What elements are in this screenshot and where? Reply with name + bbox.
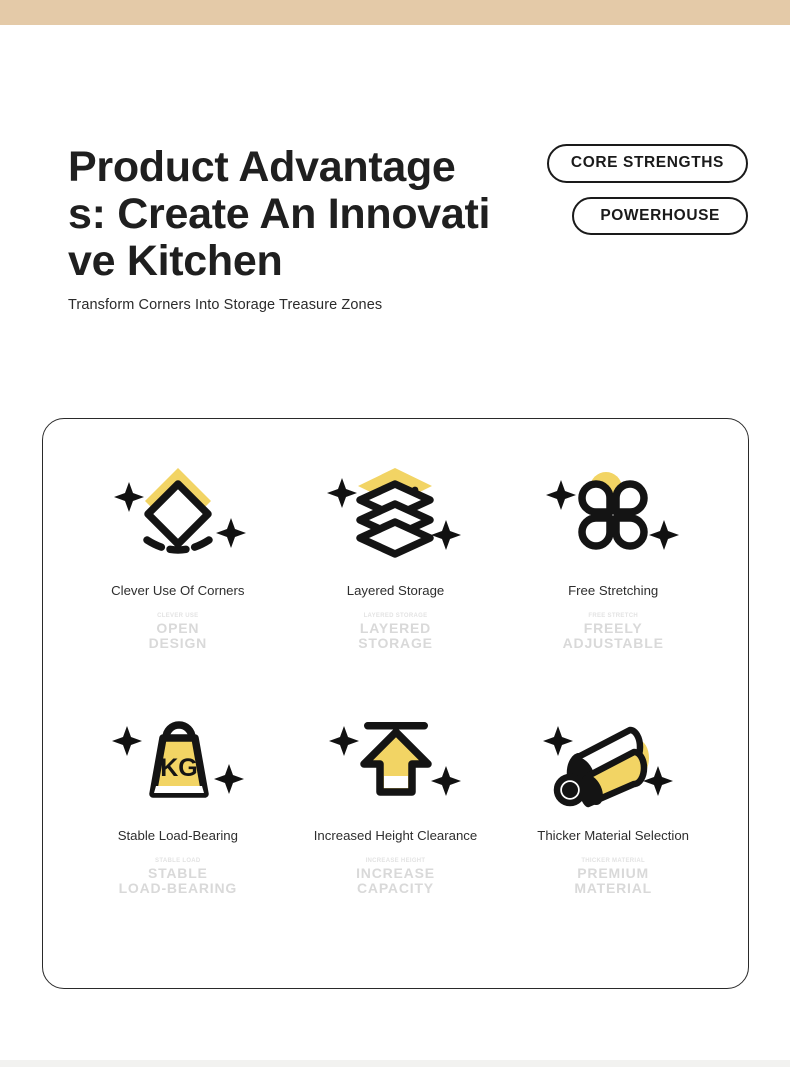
watermark-line-2: DESIGN xyxy=(149,636,207,651)
feature-label: Layered Storage xyxy=(347,583,445,599)
metal-pipes-icon xyxy=(533,708,693,812)
page-header: Product Advantages: Create An Innovative… xyxy=(0,130,790,340)
watermark-line-1: OPEN xyxy=(149,621,207,636)
kg-weight-icon: KG xyxy=(98,708,258,812)
feature-label: Free Stretching xyxy=(568,583,658,599)
watermark-line-1: FREELY xyxy=(563,621,664,636)
feature-item-layered-storage[interactable]: Layered Storage Layered Storage LAYERED … xyxy=(287,457,505,708)
feature-item-clever-use-of-corners[interactable]: Clever Use Of Corners Clever Use OPEN DE… xyxy=(69,457,287,708)
feature-label: Clever Use Of Corners xyxy=(111,583,244,599)
page-root: Product Advantages: Create An Innovative… xyxy=(0,0,790,1067)
watermark-line-1: PREMIUM xyxy=(574,866,652,881)
watermark-top-line: Thicker Material xyxy=(574,857,652,865)
badge-group: CORE STRENGTHS POWERHOUSE xyxy=(488,144,748,235)
bottom-divider-band xyxy=(0,1060,790,1067)
feature-watermark: Thicker Material PREMIUM MATERIAL xyxy=(574,857,652,896)
watermark-line-1: STABLE xyxy=(119,866,237,881)
feature-card-panel: Clever Use Of Corners Clever Use OPEN DE… xyxy=(42,418,749,989)
feature-watermark: Stable Load STABLE LOAD-BEARING xyxy=(119,857,237,896)
watermark-top-line: Clever Use xyxy=(149,612,207,620)
diamond-corner-icon xyxy=(98,457,258,567)
feature-item-free-stretching[interactable]: Free Stretching Free Stretch FREELY ADJU… xyxy=(504,457,722,708)
feature-grid: Clever Use Of Corners Clever Use OPEN DE… xyxy=(43,419,748,988)
watermark-line-1: INCREASE xyxy=(356,866,435,881)
header-text-block: Product Advantages: Create An Innovative… xyxy=(68,144,498,314)
layered-stack-icon xyxy=(315,457,475,567)
clover-stretch-icon xyxy=(533,457,693,567)
watermark-line-2: CAPACITY xyxy=(356,881,435,896)
feature-item-stable-load-bearing[interactable]: KG Stable Load-Bearing Stable Load STABL… xyxy=(69,708,287,959)
feature-watermark: Free Stretch FREELY ADJUSTABLE xyxy=(563,612,664,651)
feature-label: Stable Load-Bearing xyxy=(118,828,238,844)
watermark-top-line: Layered Storage xyxy=(358,612,433,620)
watermark-line-2: STORAGE xyxy=(358,636,433,651)
watermark-top-line: Stable Load xyxy=(119,857,237,865)
top-accent-band xyxy=(0,0,790,25)
page-title: Product Advantages: Create An Innovative… xyxy=(68,144,492,285)
badge-core-strengths[interactable]: CORE STRENGTHS xyxy=(547,144,748,183)
watermark-line-1: LAYERED xyxy=(358,621,433,636)
watermark-top-line: Increase Height xyxy=(356,857,435,865)
feature-watermark: Increase Height INCREASE CAPACITY xyxy=(356,857,435,896)
feature-item-increased-height-clearance[interactable]: Increased Height Clearance Increase Heig… xyxy=(287,708,505,959)
badge-powerhouse[interactable]: POWERHOUSE xyxy=(572,197,748,236)
page-subtitle: Transform Corners Into Storage Treasure … xyxy=(68,296,498,314)
feature-watermark: Layered Storage LAYERED STORAGE xyxy=(358,612,433,651)
watermark-line-2: MATERIAL xyxy=(574,881,652,896)
feature-label: Increased Height Clearance xyxy=(314,828,477,844)
svg-text:KG: KG xyxy=(160,754,198,782)
watermark-line-2: LOAD-BEARING xyxy=(119,881,237,896)
watermark-line-2: ADJUSTABLE xyxy=(563,636,664,651)
feature-watermark: Clever Use OPEN DESIGN xyxy=(149,612,207,651)
feature-label: Thicker Material Selection xyxy=(537,828,689,844)
watermark-top-line: Free Stretch xyxy=(563,612,664,620)
feature-item-thicker-material-selection[interactable]: Thicker Material Selection Thicker Mater… xyxy=(504,708,722,959)
up-arrow-ceiling-icon xyxy=(315,708,475,812)
